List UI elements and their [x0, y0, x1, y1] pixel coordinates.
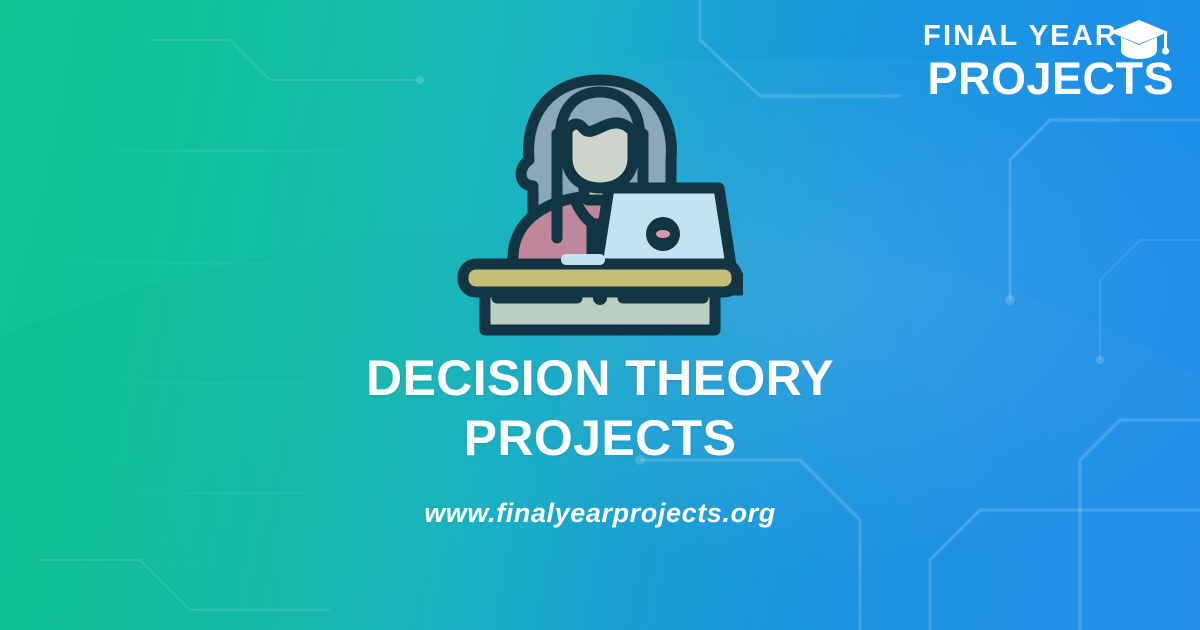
graduation-cap-icon [1108, 18, 1170, 64]
page-title: DECISION THEORY PROJECTS [0, 348, 1200, 468]
brand-logo[interactable]: FINAL YEAR PROJECTS [923, 22, 1174, 101]
title-line-1: DECISION THEORY [366, 350, 834, 406]
woman-at-desk-with-laptop-icon [457, 62, 743, 344]
promo-banner: FINAL YEAR PROJECTS [0, 0, 1200, 630]
desk-drawer-handle-icon [593, 291, 607, 305]
title-line-2: PROJECTS [0, 408, 1200, 468]
website-url[interactable]: www.finalyearprojects.org [0, 498, 1200, 529]
